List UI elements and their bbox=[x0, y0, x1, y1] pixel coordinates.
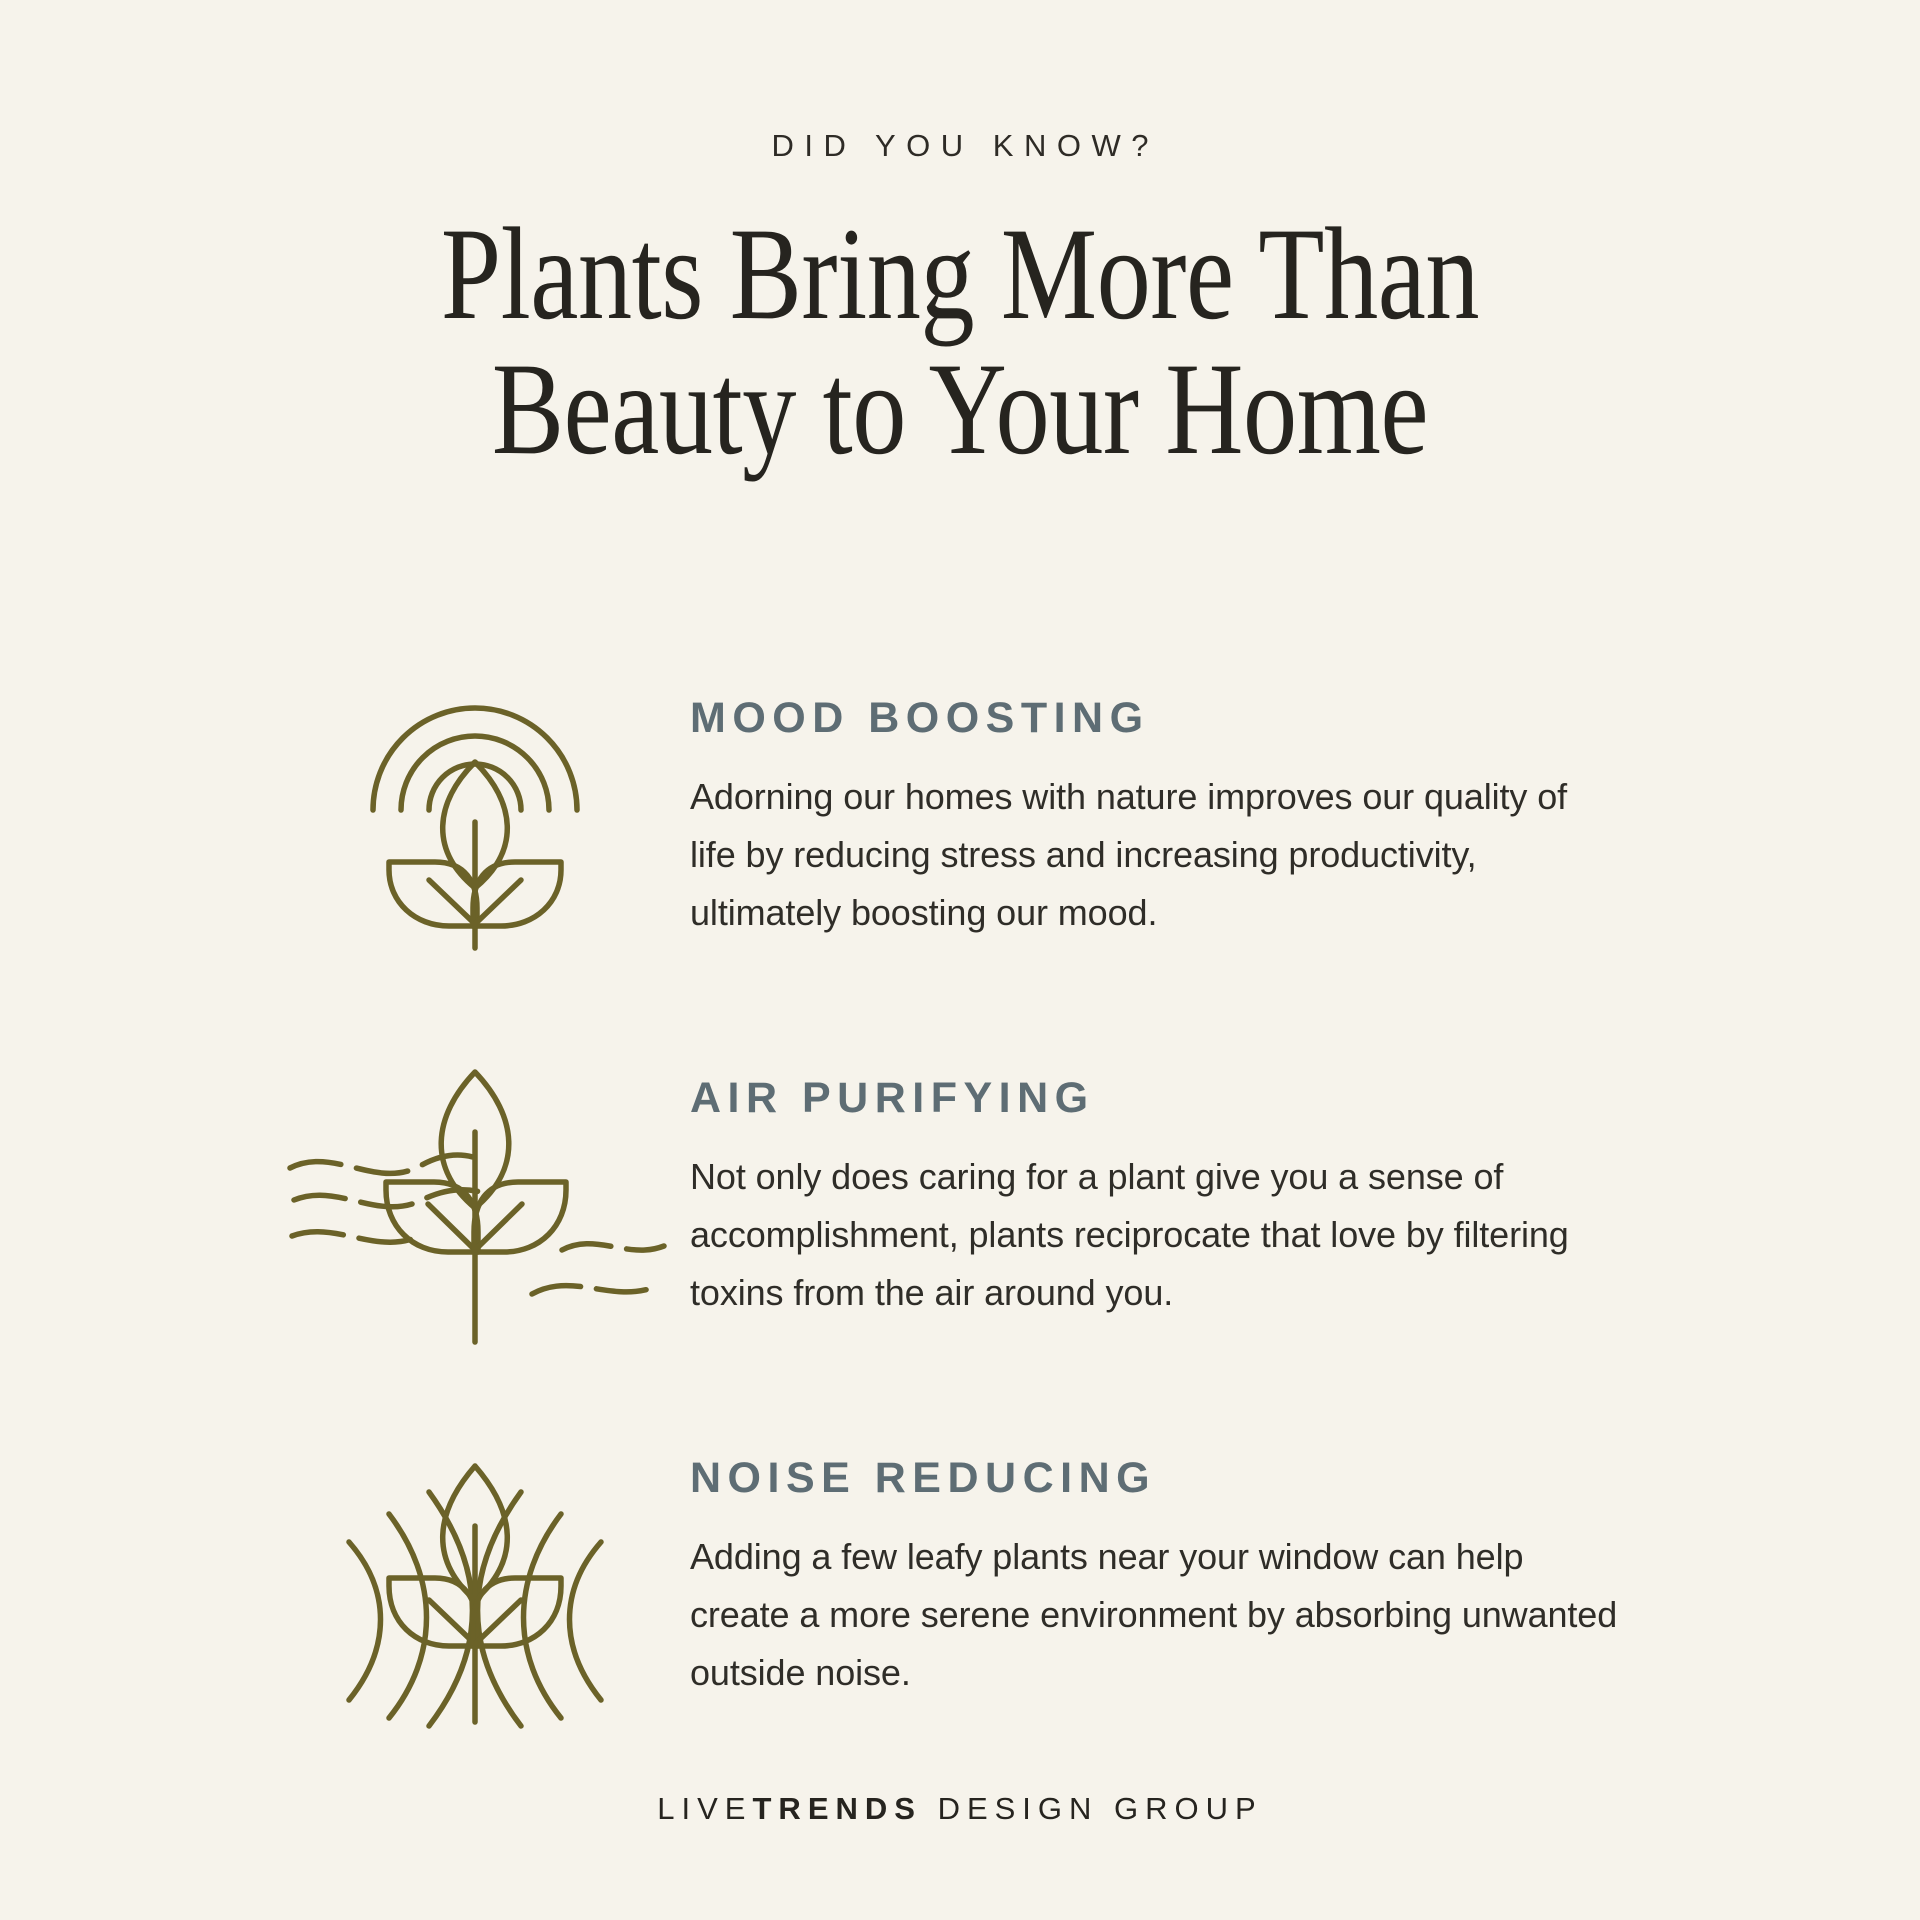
benefit-item-noise-reducing: NOISE REDUCING Adding a few leafy plants… bbox=[260, 1411, 1660, 1791]
page-title-line-2: Beauty to Your Home bbox=[386, 342, 1534, 477]
benefit-title: NOISE REDUCING bbox=[690, 1457, 1660, 1500]
benefit-text-mood-boosting: MOOD BOOSTING Adorning our homes with na… bbox=[690, 651, 1660, 943]
benefit-list: MOOD BOOSTING Adorning our homes with na… bbox=[260, 651, 1660, 1791]
benefit-title: MOOD BOOSTING bbox=[690, 697, 1660, 740]
noise-reducing-plant-icon bbox=[260, 1411, 690, 1741]
benefit-text-noise-reducing: NOISE REDUCING Adding a few leafy plants… bbox=[690, 1411, 1660, 1703]
page-title: Plants Bring More Than Beauty to Your Ho… bbox=[386, 207, 1534, 476]
brand-wordmark-live: LIVE bbox=[657, 1791, 752, 1826]
benefit-title: AIR PURIFYING bbox=[690, 1077, 1660, 1120]
mood-boosting-plant-icon bbox=[260, 651, 690, 981]
eyebrow-label: DID YOU KNOW? bbox=[761, 130, 1159, 161]
benefit-body: Adding a few leafy plants near your wind… bbox=[690, 1528, 1620, 1703]
brand-wordmark: LIVETRENDS DESIGN GROUP bbox=[0, 1793, 1920, 1824]
benefit-item-mood-boosting: MOOD BOOSTING Adorning our homes with na… bbox=[260, 651, 1660, 1031]
air-purifying-plant-icon bbox=[260, 1031, 690, 1361]
benefit-body: Adorning our homes with nature improves … bbox=[690, 768, 1620, 943]
page-title-line-1: Plants Bring More Than bbox=[386, 207, 1534, 342]
brand-wordmark-suffix: DESIGN GROUP bbox=[922, 1791, 1263, 1826]
infographic-page: DID YOU KNOW? Plants Bring More Than Bea… bbox=[0, 0, 1920, 1920]
benefit-item-air-purifying: AIR PURIFYING Not only does caring for a… bbox=[260, 1031, 1660, 1411]
benefit-body: Not only does caring for a plant give yo… bbox=[690, 1148, 1620, 1323]
benefit-text-air-purifying: AIR PURIFYING Not only does caring for a… bbox=[690, 1031, 1660, 1323]
brand-wordmark-trends: TRENDS bbox=[753, 1791, 922, 1826]
